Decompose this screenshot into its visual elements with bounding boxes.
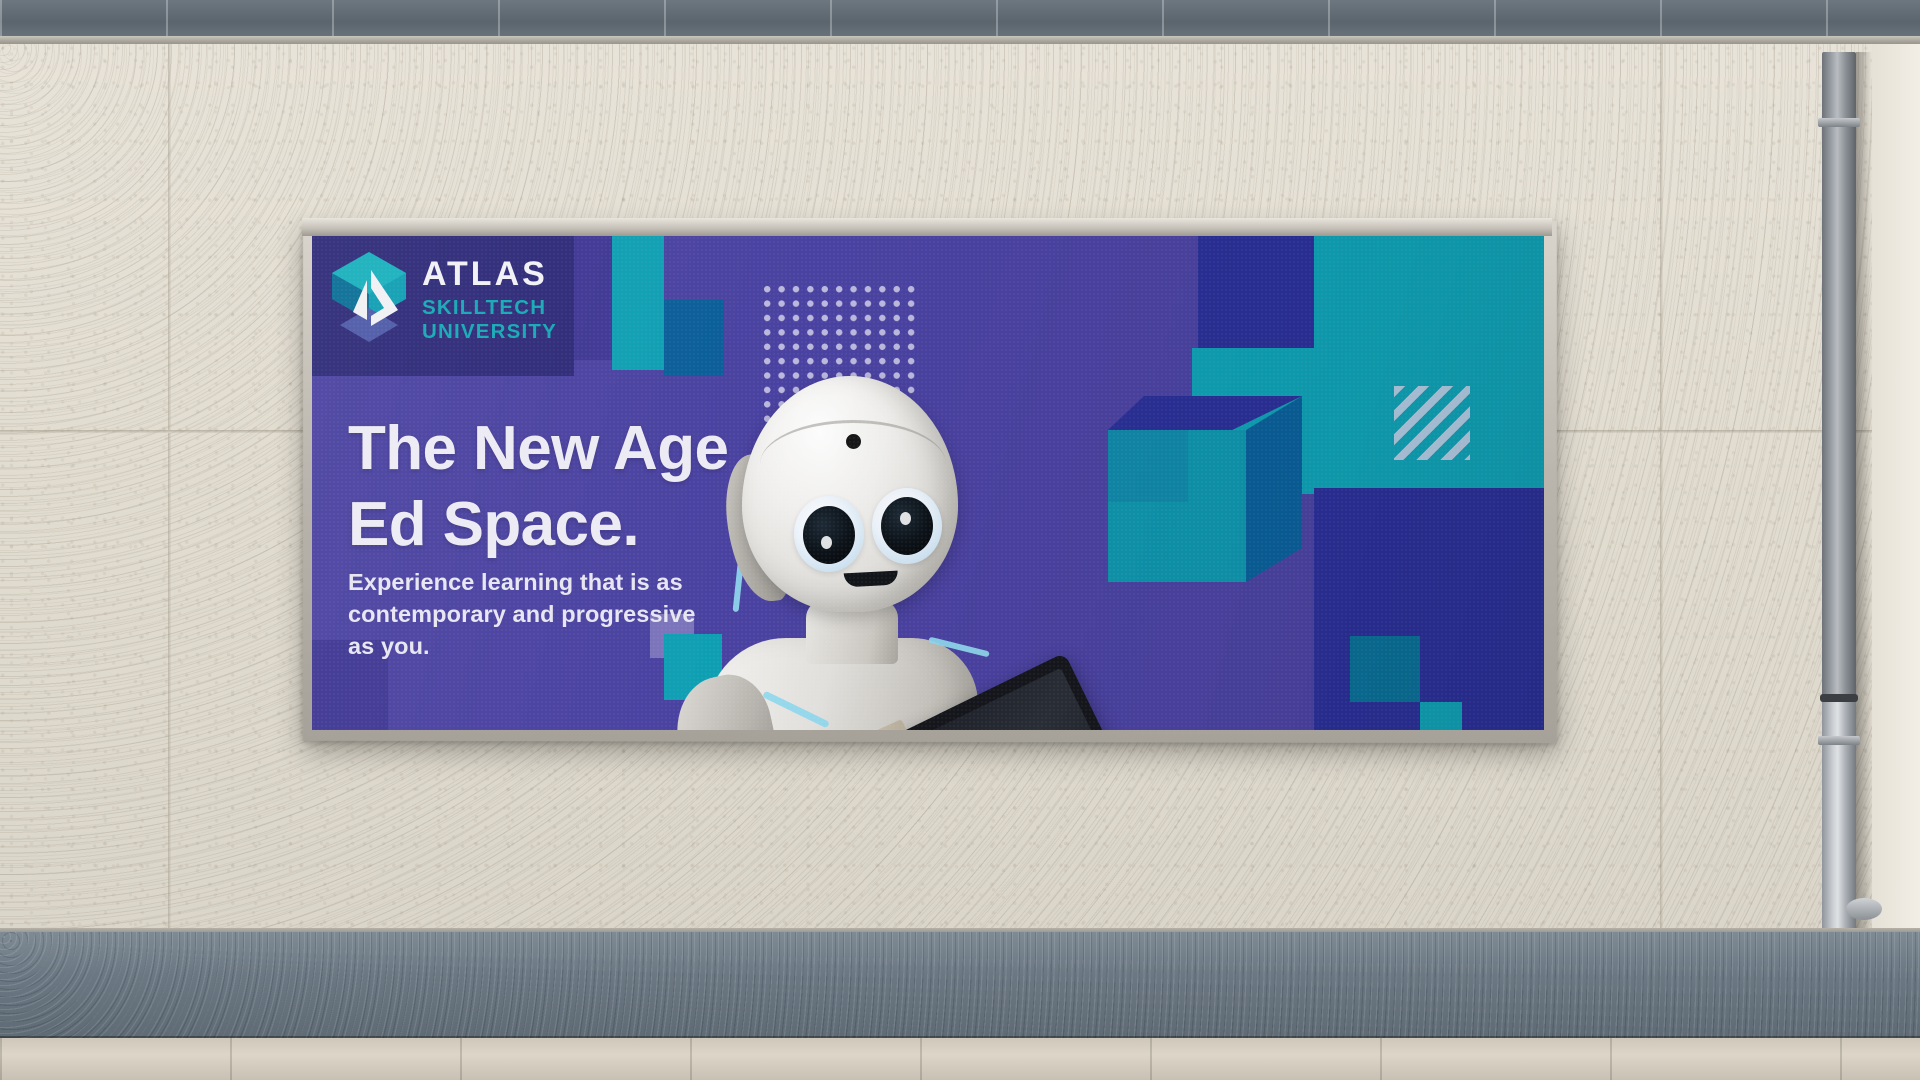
billboard-scene-photo: ATLAS SKILLTECH UNIVERSITY The New Age E… [0, 0, 1920, 1080]
indigo-square-top-right [1198, 236, 1314, 348]
robot-left-pupil [803, 506, 855, 564]
subcopy-line1: Experience learning that is as [348, 566, 748, 598]
subcopy: Experience learning that is as contempor… [348, 566, 748, 663]
robot-right-pupil [881, 497, 933, 555]
wall-seam-vertical [168, 433, 171, 932]
facade-right-return [1872, 44, 1920, 932]
wall-seam-vertical [1660, 44, 1663, 430]
atlas-cube-logo-icon [326, 250, 412, 346]
drainpipe-collar [1818, 736, 1860, 745]
blue-square-upper [664, 300, 724, 376]
logo-subtitle-line1: SKILLTECH [422, 296, 557, 320]
pavement [0, 1038, 1920, 1080]
billboard-top-rail [302, 218, 1552, 236]
subcopy-line3: as you. [348, 630, 748, 662]
robot-right-eye-glint [900, 512, 911, 525]
subcopy-line2: contemporary and progressive [348, 598, 748, 630]
headline-line2: Ed Space. [348, 487, 728, 563]
billboard-poster: ATLAS SKILLTECH UNIVERSITY The New Age E… [312, 236, 1544, 730]
teal-square-bottom-right [1420, 702, 1462, 730]
drainpipe-outlet [1846, 898, 1882, 920]
headline-line1: The New Age [348, 411, 728, 487]
base-plinth-wall [0, 932, 1920, 1040]
headline: The New Age Ed Space. [348, 411, 728, 562]
cube-front-shade [1108, 430, 1188, 502]
logo-title: ATLAS [422, 257, 557, 291]
robot-forehead-camera-icon [846, 434, 861, 449]
purple-notch [664, 236, 700, 300]
indigo-panel-lower-right [1314, 488, 1544, 730]
teal-square-top [612, 236, 664, 370]
drainpipe-lower-section [1822, 700, 1856, 932]
drainpipe-shadow [1856, 52, 1872, 932]
wall-seam-vertical [168, 44, 171, 430]
drainpipe-collar [1818, 118, 1860, 127]
logo-wordmark: ATLAS SKILLTECH UNIVERSITY [422, 253, 557, 344]
brand-logo: ATLAS SKILLTECH UNIVERSITY [326, 250, 557, 346]
metal-cladding-panels [0, 0, 1920, 40]
blue-square-bottom-right [1350, 636, 1420, 702]
diagonal-stripe-block [1394, 386, 1470, 460]
wall-seam-vertical [1660, 433, 1663, 932]
drainpipe-joint-cap [1820, 694, 1858, 702]
logo-subtitle-line2: UNIVERSITY [422, 320, 557, 344]
robot-left-eye-glint [821, 536, 832, 549]
